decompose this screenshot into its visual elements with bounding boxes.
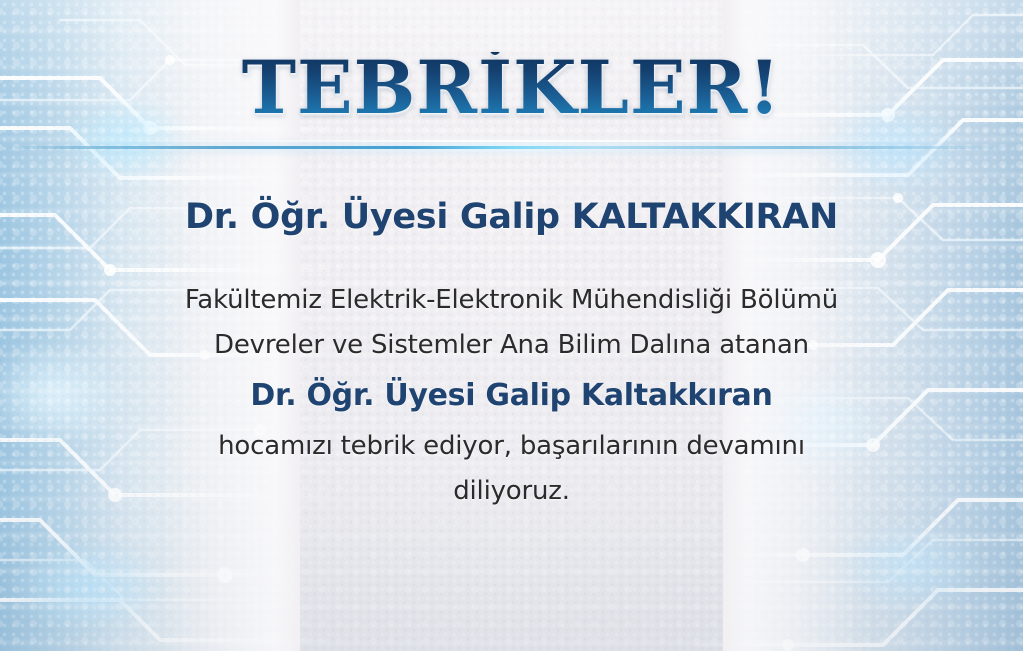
body-line: Devreler ve Sistemler Ana Bilim Dalına a…: [0, 323, 1023, 368]
poster-title: TEBRİKLER!: [0, 52, 1023, 125]
body-line: Fakültemiz Elektrik-Elektronik Mühendisl…: [0, 278, 1023, 323]
body-line: hocamızı tebrik ediyor, başarılarının de…: [0, 424, 1023, 469]
body-line: diliyoruz.: [0, 469, 1023, 514]
poster-body: Fakültemiz Elektrik-Elektronik Mühendisl…: [0, 278, 1023, 514]
honoree-name-heading: Dr. Öğr. Üyesi Galip KALTAKKIRAN: [0, 197, 1023, 237]
congratulations-poster: TEBRİKLER! Dr. Öğr. Üyesi Galip KALTAKKI…: [0, 0, 1023, 651]
body-line-emphasis: Dr. Öğr. Üyesi Galip Kaltakkıran: [0, 368, 1023, 424]
poster-content: TEBRİKLER! Dr. Öğr. Üyesi Galip KALTAKKI…: [0, 0, 1023, 651]
